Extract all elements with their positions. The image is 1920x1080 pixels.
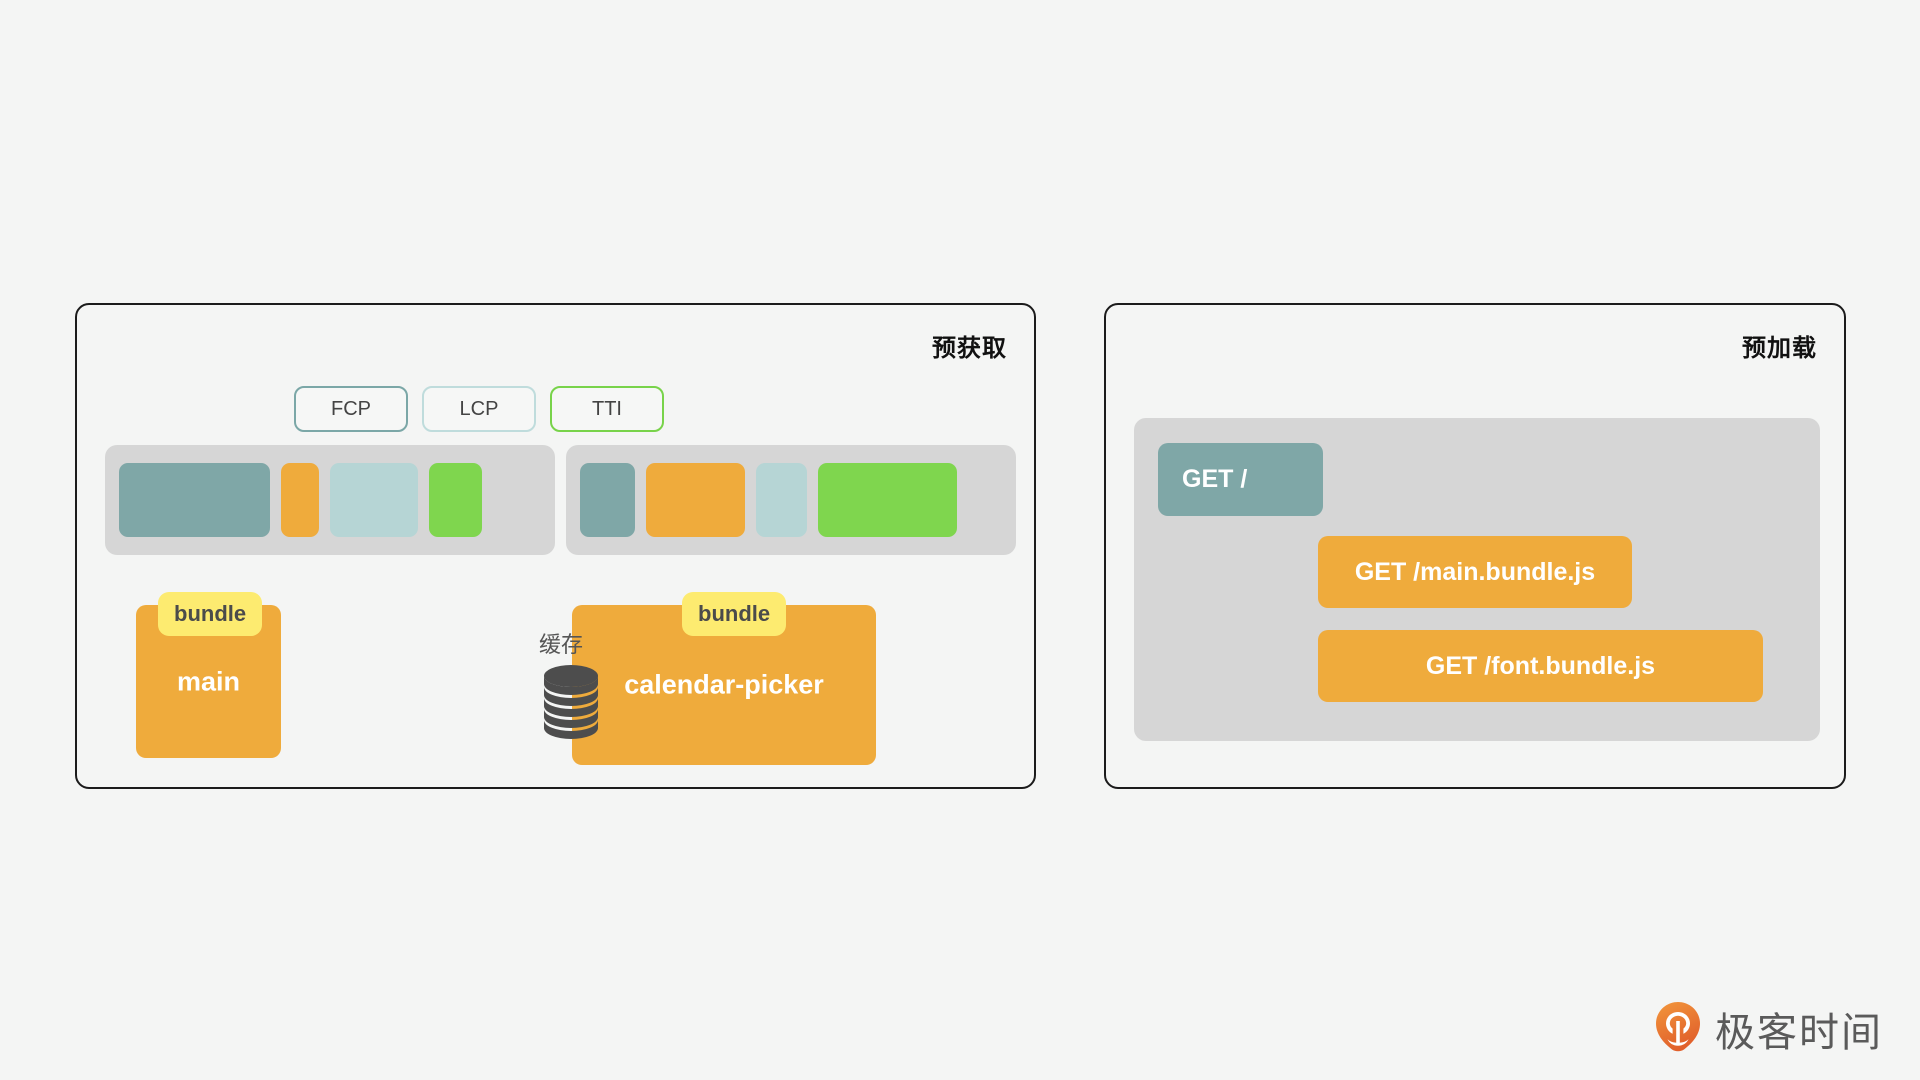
preload-panel: 预加载 GET / GET /main.bundle.js GET /font.… bbox=[1104, 303, 1846, 789]
bundle-main-tag: bundle bbox=[158, 592, 262, 636]
prefetch-panel: 预获取 FCP LCP TTI main bundle bbox=[75, 303, 1036, 789]
timeline-segment bbox=[429, 463, 482, 537]
request-bar-main-bundle[interactable]: GET /main.bundle.js bbox=[1318, 536, 1632, 608]
metric-pill-fcp[interactable]: FCP bbox=[294, 386, 408, 432]
cache-label: 缓存 bbox=[539, 627, 583, 659]
request-bar-root[interactable]: GET / bbox=[1158, 443, 1323, 516]
request-bar-font-bundle[interactable]: GET /font.bundle.js bbox=[1318, 630, 1763, 702]
cache-indicator: 缓存 bbox=[539, 627, 614, 747]
geektime-logo-icon bbox=[1655, 1001, 1701, 1058]
request-bar-font-bundle-label: GET /font.bundle.js bbox=[1426, 652, 1655, 681]
metric-pill-row: FCP LCP TTI bbox=[294, 386, 664, 432]
bundle-calendar-picker-tag-label: bundle bbox=[698, 601, 770, 627]
timeline-segment bbox=[646, 463, 745, 537]
watermark: 极客时间 bbox=[1655, 1000, 1883, 1058]
request-bar-root-label: GET / bbox=[1182, 465, 1247, 494]
timeline-track-1 bbox=[105, 445, 555, 555]
bundle-calendar-picker-label: calendar-picker bbox=[572, 670, 876, 701]
metric-pill-fcp-label: FCP bbox=[331, 398, 371, 421]
timeline-segment bbox=[330, 463, 418, 537]
preload-request-tray: GET / GET /main.bundle.js GET /font.bund… bbox=[1134, 418, 1820, 741]
metric-pill-lcp[interactable]: LCP bbox=[422, 386, 536, 432]
metric-pill-tti-label: TTI bbox=[592, 398, 622, 421]
prefetch-panel-title: 预获取 bbox=[932, 328, 1007, 363]
timeline-segment bbox=[580, 463, 635, 537]
watermark-text: 极客时间 bbox=[1715, 1000, 1883, 1058]
cache-database-icon bbox=[540, 663, 602, 746]
metric-pill-lcp-label: LCP bbox=[460, 398, 499, 421]
metric-pill-tti[interactable]: TTI bbox=[550, 386, 664, 432]
request-bar-main-bundle-label: GET /main.bundle.js bbox=[1355, 558, 1595, 587]
timeline-segment bbox=[119, 463, 270, 537]
timeline-segment bbox=[756, 463, 807, 537]
timeline-track-2 bbox=[566, 445, 1016, 555]
timeline-segment bbox=[818, 463, 957, 537]
preload-panel-title: 预加载 bbox=[1742, 328, 1817, 363]
bundle-main-tag-label: bundle bbox=[174, 601, 246, 627]
timeline-segment bbox=[281, 463, 319, 537]
bundle-calendar-picker-tag: bundle bbox=[682, 592, 786, 636]
bundle-main-label: main bbox=[136, 666, 281, 697]
